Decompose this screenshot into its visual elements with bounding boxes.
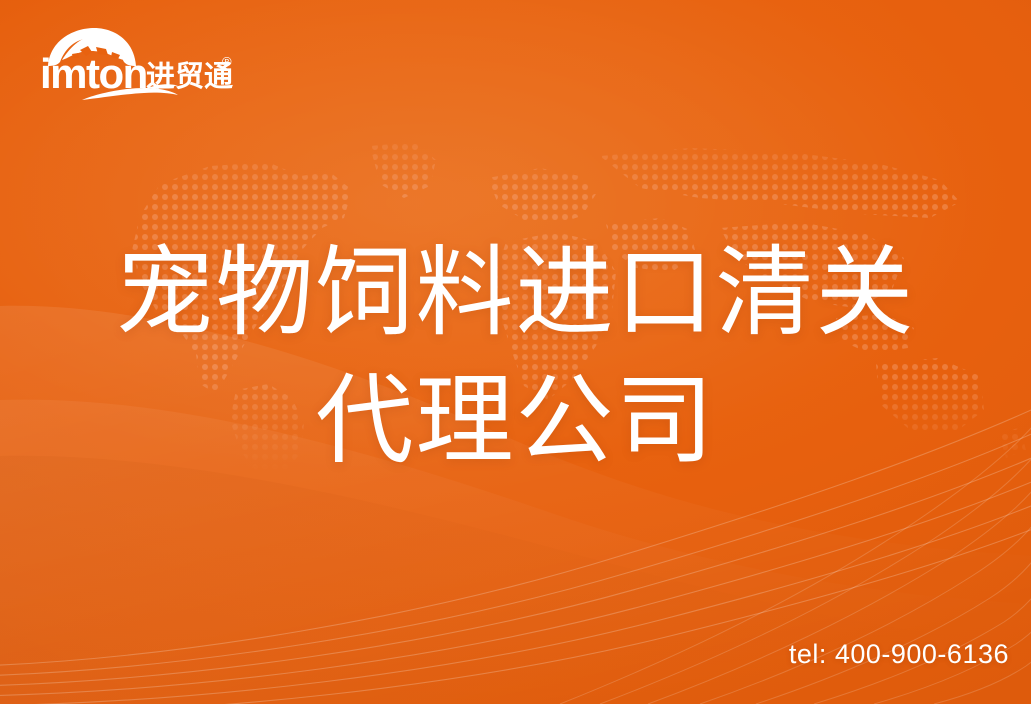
page-title: 宠物饲料进口清关 代理公司 (0, 228, 1031, 484)
promo-banner: imton 进贸通 ® 宠物饲料进口清关 代理公司 tel: 400-900-6… (0, 0, 1031, 704)
contact-phone[interactable]: tel: 400-900-6136 (789, 641, 1009, 668)
trademark-symbol: ® (222, 54, 232, 69)
page-title-line-1: 宠物饲料进口清关 (0, 228, 1031, 356)
imton-logo[interactable]: imton 进贸通 ® (36, 26, 236, 104)
page-title-line-2: 代理公司 (0, 356, 1031, 484)
